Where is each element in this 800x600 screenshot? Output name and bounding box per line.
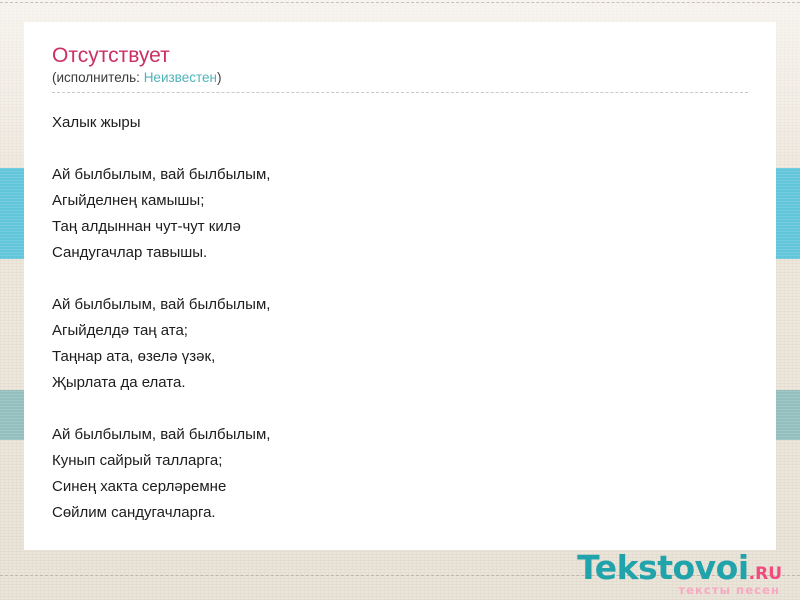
lyrics-line: Ай былбылым, вай былбылым, bbox=[52, 422, 748, 448]
lyrics-line: Халык жыры bbox=[52, 110, 748, 136]
lyrics-line: Җырлата да елата. bbox=[52, 370, 748, 396]
lyrics-line: Ай былбылым, вай былбылым, bbox=[52, 162, 748, 188]
logo-tld: .RU bbox=[749, 566, 782, 583]
page-title: Отсутствует bbox=[52, 44, 748, 68]
lyrics-line: Сөйлим сандугачларга. bbox=[52, 500, 748, 526]
page-background: Отсутствует (исполнитель: Неизвестен) Ха… bbox=[0, 0, 800, 600]
logo-wordmark: Tekstovoi bbox=[577, 551, 749, 584]
lyrics-line: Агыйделдә таң ата; bbox=[52, 318, 748, 344]
lyrics-card: Отсутствует (исполнитель: Неизвестен) Ха… bbox=[24, 22, 776, 550]
artist-suffix: ) bbox=[217, 70, 222, 85]
lyrics-line: Кунып сайрый талларга; bbox=[52, 448, 748, 474]
lyrics-stanza: Ай былбылым, вай былбылым,Кунып сайрый т… bbox=[52, 422, 748, 526]
lyrics-line: Ай былбылым, вай былбылым, bbox=[52, 292, 748, 318]
lyrics-attribution: Халык жыры bbox=[52, 110, 748, 136]
decorative-bar-left-muted bbox=[0, 390, 24, 440]
lyrics-line: Сандугачлар тавышы. bbox=[52, 240, 748, 266]
artist-line: (исполнитель: Неизвестен) bbox=[52, 70, 748, 93]
paper-rule-top bbox=[0, 2, 800, 3]
decorative-bar-right-muted bbox=[776, 390, 800, 440]
lyrics-card-inner: Отсутствует (исполнитель: Неизвестен) Ха… bbox=[24, 22, 776, 526]
lyrics-stanza: Ай былбылым, вай былбылым,Агыйделнең кам… bbox=[52, 162, 748, 266]
decorative-bar-left-bright bbox=[0, 168, 24, 259]
site-logo[interactable]: Tekstovoi.RU тексты песен bbox=[577, 551, 782, 597]
lyrics-line: Таң алдыннан чут-чут килә bbox=[52, 214, 748, 240]
artist-label: (исполнитель: bbox=[52, 70, 144, 85]
lyrics-stanza: Ай былбылым, вай былбылым,Агыйделдә таң … bbox=[52, 292, 748, 396]
lyrics-body: Халык жырыАй былбылым, вай былбылым,Агый… bbox=[52, 110, 748, 526]
artist-link[interactable]: Неизвестен bbox=[144, 70, 217, 85]
decorative-bar-right-bright bbox=[776, 168, 800, 259]
lyrics-line: Таңнар ата, өзелә үзәк, bbox=[52, 344, 748, 370]
lyrics-line: Синең хакта серләремне bbox=[52, 474, 748, 500]
lyrics-line: Агыйделнең камышы; bbox=[52, 188, 748, 214]
